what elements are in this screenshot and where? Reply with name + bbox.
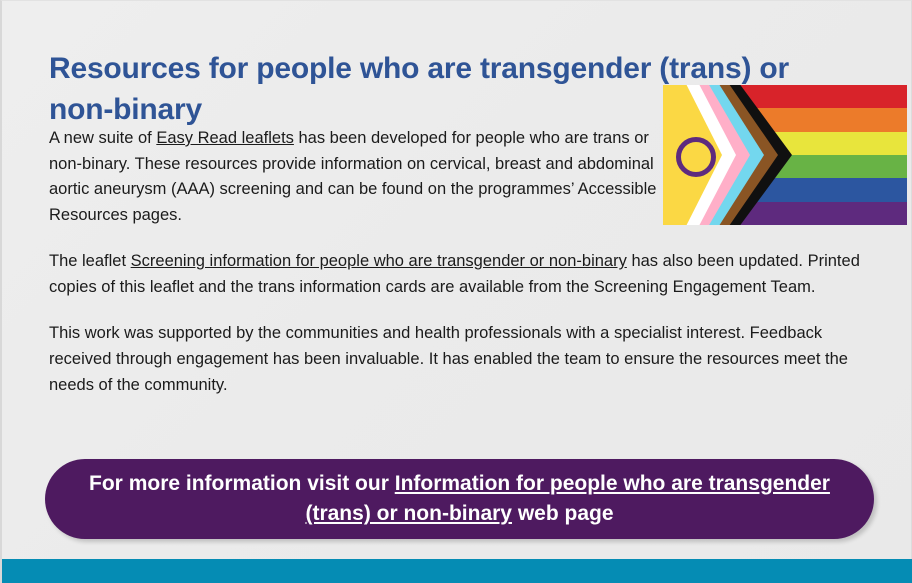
paragraph-engagement-text: This work was supported by the communiti… [49,324,848,393]
easy-read-leaflets-link[interactable]: Easy Read leaflets [156,129,294,147]
screening-information-leaflet-link[interactable]: Screening information for people who are… [131,252,627,270]
paragraph-intro-text-before: A new suite of [49,129,156,147]
paragraph-engagement: This work was supported by the communiti… [49,321,861,398]
paragraph-leaflet-text-before: The leaflet [49,252,131,270]
footer-accent-bar [2,559,912,583]
intersex-inclusive-progress-pride-flag-icon [663,85,907,225]
cta-text-after: web page [512,502,614,525]
cta-text-before: For more information visit our [89,472,395,495]
paragraph-intro: A new suite of Easy Read leaflets has be… [49,126,657,228]
pride-flag-image [663,85,907,225]
more-information-button[interactable]: For more information visit our Informati… [45,459,874,539]
newsletter-article: Resources for people who are transgender… [0,0,912,583]
cta-label: For more information visit our Informati… [71,469,848,530]
intersex-circle-icon [676,137,716,177]
paragraph-leaflet: The leaflet Screening information for pe… [49,249,861,300]
